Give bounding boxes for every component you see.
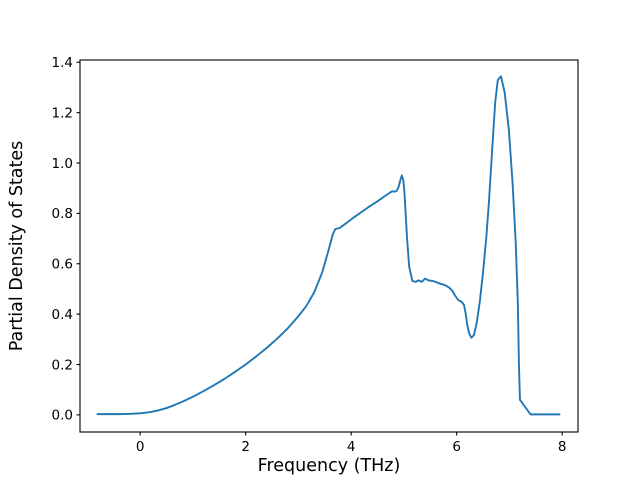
y-tick-label: 0.2 bbox=[52, 357, 73, 373]
data-series-line bbox=[97, 76, 559, 414]
x-tick-label: 4 bbox=[347, 439, 356, 455]
y-tick-label: 0.6 bbox=[52, 257, 73, 273]
data-series-group bbox=[97, 76, 559, 414]
x-tick-label: 2 bbox=[241, 439, 250, 455]
y-axis-label: Partial Density of States bbox=[7, 141, 27, 352]
pdos-line-chart: 024680.00.20.40.60.81.01.21.4 Frequency … bbox=[0, 0, 640, 480]
y-tick-label: 0.4 bbox=[52, 307, 73, 323]
tick-label-group: 024680.00.20.40.60.81.01.21.4 bbox=[52, 55, 567, 455]
y-tick-label: 1.4 bbox=[52, 55, 73, 71]
figure-canvas: 024680.00.20.40.60.81.01.21.4 Frequency … bbox=[0, 0, 640, 480]
y-tick-label: 1.2 bbox=[52, 105, 73, 121]
y-tick-label: 0.8 bbox=[52, 206, 73, 222]
x-axis-label: Frequency (THz) bbox=[258, 456, 401, 476]
x-tick-label: 6 bbox=[452, 439, 461, 455]
y-tick-label: 0.0 bbox=[52, 408, 73, 424]
axes-group bbox=[77, 60, 579, 436]
y-tick-label: 1.0 bbox=[52, 156, 73, 172]
x-tick-label: 8 bbox=[558, 439, 567, 455]
x-tick-label: 0 bbox=[136, 439, 145, 455]
